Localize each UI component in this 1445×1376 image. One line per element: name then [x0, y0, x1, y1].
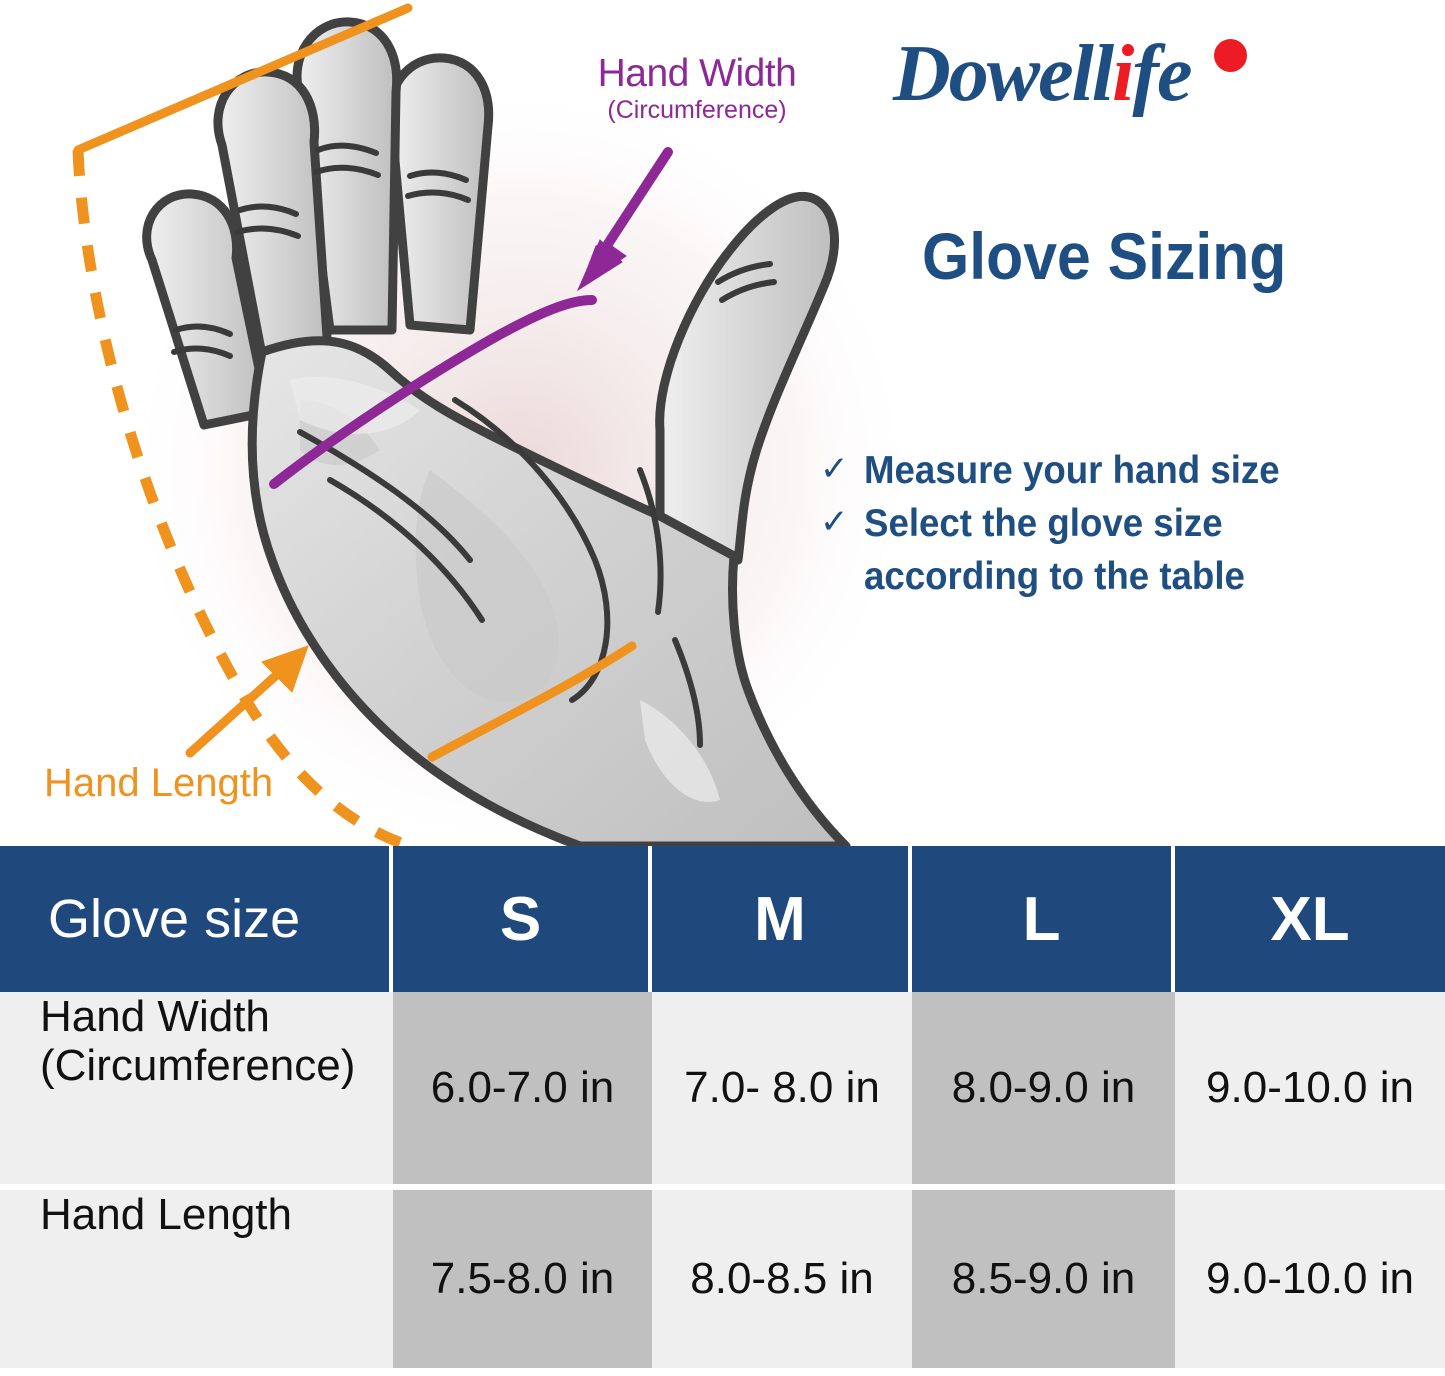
row-label-line1: Hand Length	[40, 1190, 292, 1239]
list-item: ✓ Select the glove size	[820, 500, 1420, 547]
list-item: ✓ Measure your hand size	[820, 447, 1420, 494]
table-header-row: Glove size S M L XL	[0, 846, 1445, 992]
table-header-size-m: M	[652, 846, 912, 992]
glove-sizing-infographic: Hand Width (Circumference) Hand Length D…	[0, 0, 1445, 1376]
brand-logo-red-dot-icon	[1214, 39, 1247, 72]
cell-hand-length-s: 7.5-8.0 in	[393, 1190, 652, 1368]
cell-hand-length-m: 8.0-8.5 in	[652, 1190, 912, 1368]
row-label-line1: Hand Width	[40, 992, 270, 1041]
instruction-text: Select the glove size	[864, 500, 1223, 547]
page-title: Glove Sizing	[922, 218, 1354, 294]
instruction-text: Measure your hand size	[864, 447, 1280, 494]
cell-hand-width-s: 6.0-7.0 in	[393, 992, 652, 1184]
hand-width-annotation-line2: (Circumference)	[552, 97, 842, 123]
list-item: according to the table	[820, 553, 1420, 600]
brand-name-part2: fe	[1132, 30, 1190, 118]
cell-hand-width-m: 7.0- 8.0 in	[652, 992, 912, 1184]
size-table: Glove size S M L XL Hand Width (Circumfe…	[0, 846, 1445, 1376]
table-header-size-xl: XL	[1175, 846, 1445, 992]
table-header-size-l: L	[912, 846, 1175, 992]
cell-hand-width-l: 8.0-9.0 in	[912, 992, 1175, 1184]
instruction-list: ✓ Measure your hand size ✓ Select the gl…	[820, 447, 1420, 606]
instruction-text: according to the table	[864, 553, 1245, 600]
cell-hand-length-xl: 9.0-10.0 in	[1175, 1190, 1445, 1368]
table-row: Hand Width (Circumference) 6.0-7.0 in 7.…	[0, 992, 1445, 1184]
row-label-hand-width: Hand Width (Circumference)	[0, 992, 393, 1184]
check-icon: ✓	[820, 500, 864, 544]
brand-name-part1: Dowell	[893, 30, 1112, 118]
table-header-label: Glove size	[0, 846, 393, 992]
row-label-line2: (Circumference)	[40, 1041, 355, 1090]
table-header-size-s: S	[393, 846, 652, 992]
cell-hand-length-l: 8.5-9.0 in	[912, 1190, 1175, 1368]
brand-logo: Dowellife	[893, 29, 1368, 125]
cell-hand-width-xl: 9.0-10.0 in	[1175, 992, 1445, 1184]
row-label-hand-length: Hand Length	[0, 1190, 393, 1368]
hand-diagram-svg	[0, 0, 1445, 846]
check-icon: ✓	[820, 447, 864, 491]
hand-illustration: Hand Width (Circumference) Hand Length	[0, 0, 1445, 846]
brand-logo-text: Dowellife	[893, 29, 1368, 125]
table-row: Hand Length 7.5-8.0 in 8.0-8.5 in 8.5-9.…	[0, 1190, 1445, 1368]
hand-length-annotation: Hand Length	[44, 762, 273, 804]
brand-name-i: i	[1112, 30, 1132, 118]
hand-width-annotation: Hand Width (Circumference)	[552, 54, 842, 123]
hand-width-annotation-line1: Hand Width	[552, 54, 842, 95]
